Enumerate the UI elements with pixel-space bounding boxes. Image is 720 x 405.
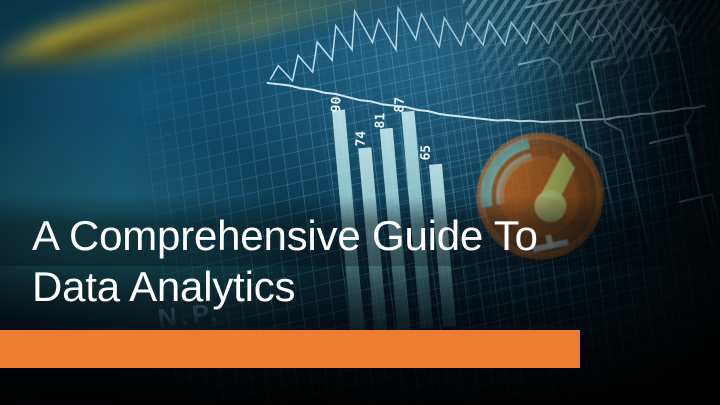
accent-bar [0, 330, 580, 368]
page-title: A Comprehensive Guide To Data Analytics [32, 210, 632, 312]
presentation-slide: 9074818765 N.P. [0, 0, 720, 405]
